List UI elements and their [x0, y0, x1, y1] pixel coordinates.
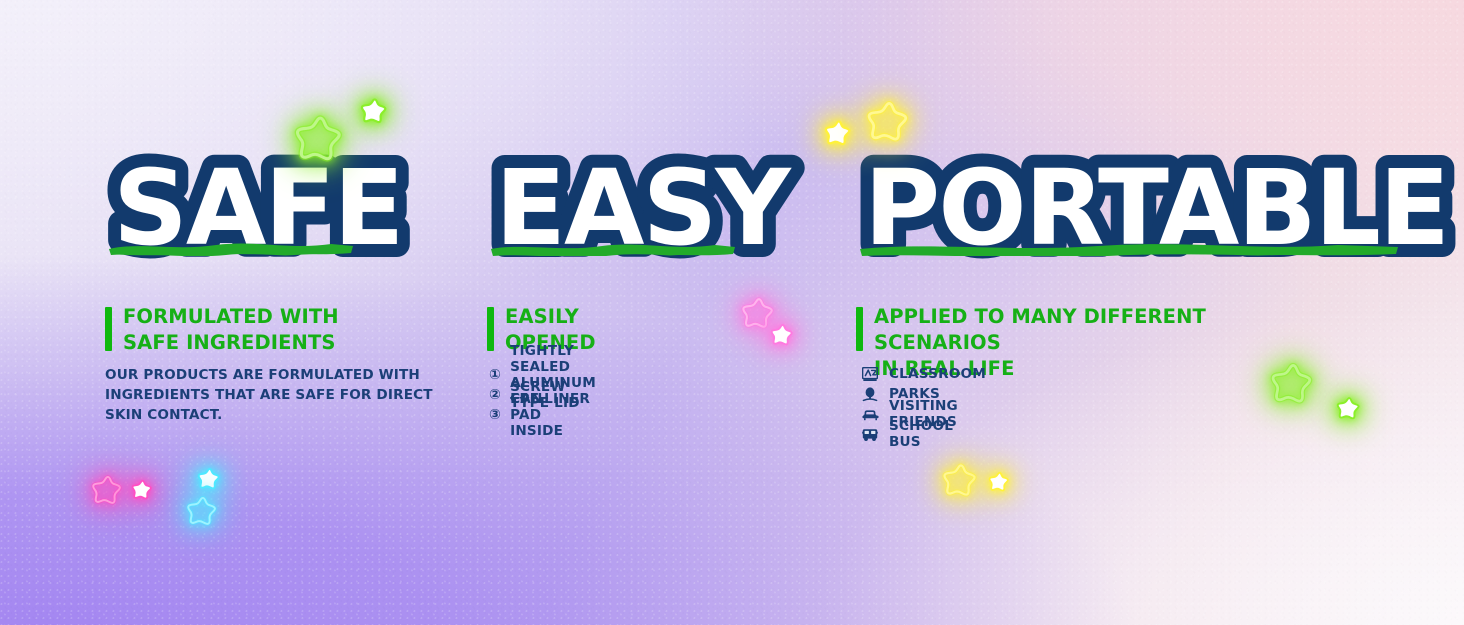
body-copy-safe: OUR PRODUCTS ARE FORMULATED WITH INGREDI…: [105, 365, 445, 425]
list-marker-1: ①: [489, 368, 501, 382]
star-cyan-filled-bottom-left: [197, 466, 221, 490]
school-bus-icon: [860, 425, 880, 443]
list-marker-2: ②: [489, 388, 501, 402]
star-green-filled-top-left: [360, 96, 388, 124]
star-yellow-outline-bottom: [942, 461, 978, 497]
headline-safe: SAFE SAFE: [105, 152, 405, 270]
list-item: CLASSROOM: [860, 364, 986, 384]
list-marker-3: ③: [489, 408, 501, 422]
tree-park-icon: [860, 385, 880, 403]
headline-easy: EASY EASY: [487, 152, 762, 270]
feature-list-easy: ① TIGHTLY SEALED ALUMINUM CAN ② SCREW TY…: [489, 365, 598, 425]
headline-portable: PORTABLE PORTABLE: [856, 152, 1376, 270]
list-item: SCHOOL BUS: [860, 424, 986, 444]
accent-bar-easy: [487, 307, 494, 351]
list-label: CLASSROOM: [889, 366, 986, 382]
star-cyan-outline-bottom-left: [186, 494, 218, 526]
subhead-safe-text: FORMULATED WITH SAFE INGREDIENTS: [123, 304, 339, 356]
classroom-desk-icon: [860, 365, 880, 383]
brush-underline-safe: [107, 236, 355, 256]
star-green-outline-right: [1270, 360, 1314, 404]
star-pink-outline-bottom-left: [91, 473, 123, 505]
star-green-filled-right: [1336, 395, 1361, 420]
brush-underline-portable: [858, 236, 1403, 256]
accent-bar-safe: [105, 307, 112, 351]
promo-banner: SAFE SAFE FORMULATED WITH SAFE INGREDIEN…: [0, 0, 1464, 625]
list-label: EPE LINER PAD INSIDE: [510, 391, 598, 439]
star-yellow-filled-bottom: [988, 470, 1010, 492]
star-yellow-outline-top-right: [866, 98, 910, 142]
subhead-safe: FORMULATED WITH SAFE INGREDIENTS: [105, 304, 435, 356]
star-yellow-filled-top-right: [824, 118, 852, 146]
list-label: SCHOOL BUS: [889, 418, 986, 450]
star-pink-filled-bottom-left: [131, 478, 153, 500]
star-green-outline-top-left: [294, 112, 344, 162]
accent-bar-portable: [856, 307, 863, 351]
brush-underline-easy: [489, 236, 737, 256]
sofa-icon: [860, 405, 880, 423]
star-pink-filled-middle: [770, 322, 794, 346]
list-item: ③ EPE LINER PAD INSIDE: [489, 405, 598, 425]
feature-list-portable: CLASSROOM PARKS: [860, 364, 986, 444]
